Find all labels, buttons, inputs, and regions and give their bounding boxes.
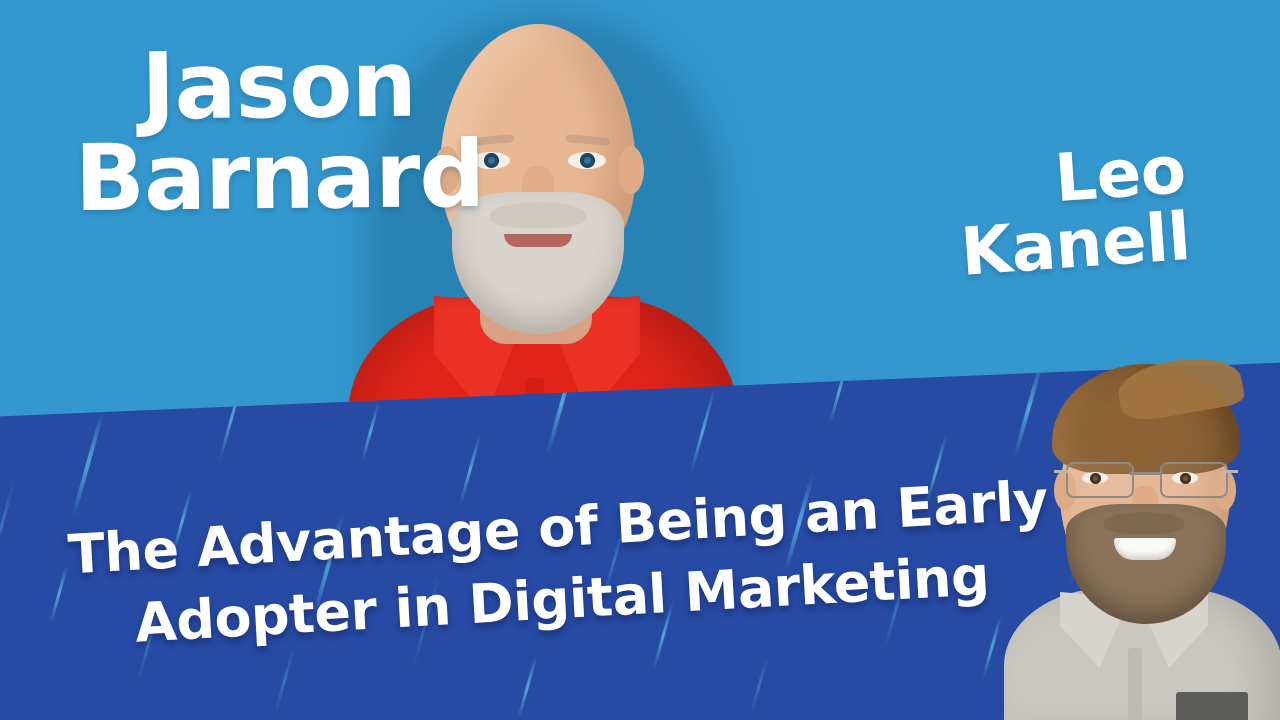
- host-name-line-2: Kanell: [959, 198, 1193, 291]
- guest-mouth: [504, 234, 572, 247]
- host-shirt-pocket: [1176, 692, 1248, 720]
- guest-name-line-2: Barnard: [74, 121, 484, 232]
- guest-name: Jason Barnard: [43, 38, 515, 225]
- host-glasses-bridge: [1130, 472, 1160, 475]
- host-name: Leo Kanell: [954, 136, 1193, 286]
- guest-eye-right: [568, 152, 606, 169]
- video-thumbnail: Jason Barnard Leo Kanell: [0, 0, 1280, 720]
- guest-iris-right: [580, 153, 595, 168]
- host-glasses-temple-right: [1224, 470, 1238, 473]
- guest-ear-right: [618, 146, 644, 194]
- host-glasses-lens-right: [1160, 462, 1228, 498]
- host-smile: [1114, 538, 1176, 560]
- host-shirt-placket: [1128, 648, 1142, 720]
